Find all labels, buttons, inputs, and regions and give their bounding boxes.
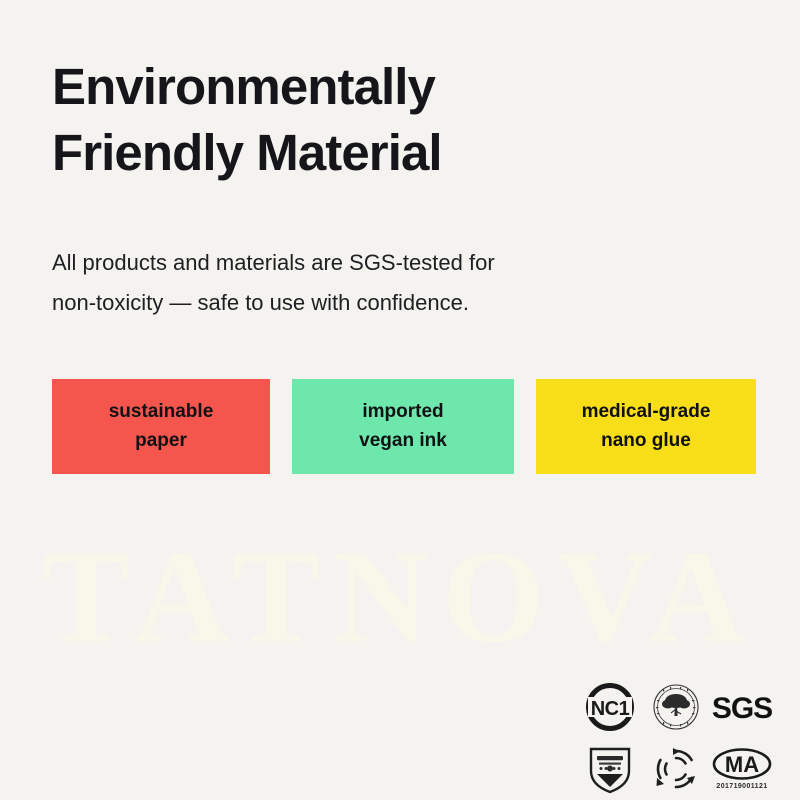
- page-content: Environmentally Friendly Material All pr…: [0, 54, 800, 474]
- material-badge-medical-grade-nano-glue: medical-grade nano glue: [536, 379, 756, 474]
- sgs-certification-logo: SGS: [710, 676, 774, 738]
- nc1-certification-logo: NC1: [578, 676, 642, 738]
- material-badge-line-1: imported: [362, 400, 443, 424]
- material-badge-line-2: vegan ink: [359, 429, 447, 453]
- material-badge-line-2: paper: [135, 429, 187, 453]
- page-title-line-2: Friendly Material: [52, 120, 748, 186]
- cma-certification-logo: MA 201719001121: [710, 738, 774, 800]
- certification-logo-grid: NC1: [578, 676, 774, 800]
- page-subtitle-line-1: All products and materials are SGS-teste…: [52, 243, 748, 283]
- page-subtitle: All products and materials are SGS-teste…: [52, 243, 748, 323]
- page-title-line-1: Environmentally: [52, 54, 748, 120]
- material-badge-line-1: sustainable: [109, 400, 214, 424]
- material-badge-sustainable-paper: sustainable paper: [52, 379, 270, 474]
- recycling-symbol-logo: [644, 738, 708, 800]
- forest-tree-seal-logo: [644, 676, 708, 738]
- material-badge-imported-vegan-ink: imported vegan ink: [292, 379, 514, 474]
- page-subtitle-line-2: non-toxicity — safe to use with confiden…: [52, 283, 748, 323]
- material-badge-line-1: medical-grade: [582, 400, 711, 424]
- cma-certificate-number: 201719001121: [716, 783, 767, 790]
- material-badge-line-2: nano glue: [601, 429, 691, 453]
- svg-text:NC1: NC1: [591, 698, 630, 720]
- svg-text:SGS: SGS: [712, 692, 772, 725]
- svg-text:MA: MA: [725, 752, 759, 777]
- brand-watermark: TATNOVA: [0, 536, 800, 656]
- shield-quality-badge-logo: [578, 738, 642, 800]
- page-title: Environmentally Friendly Material: [52, 54, 748, 187]
- material-badge-row: sustainable paper imported vegan ink med…: [52, 379, 748, 474]
